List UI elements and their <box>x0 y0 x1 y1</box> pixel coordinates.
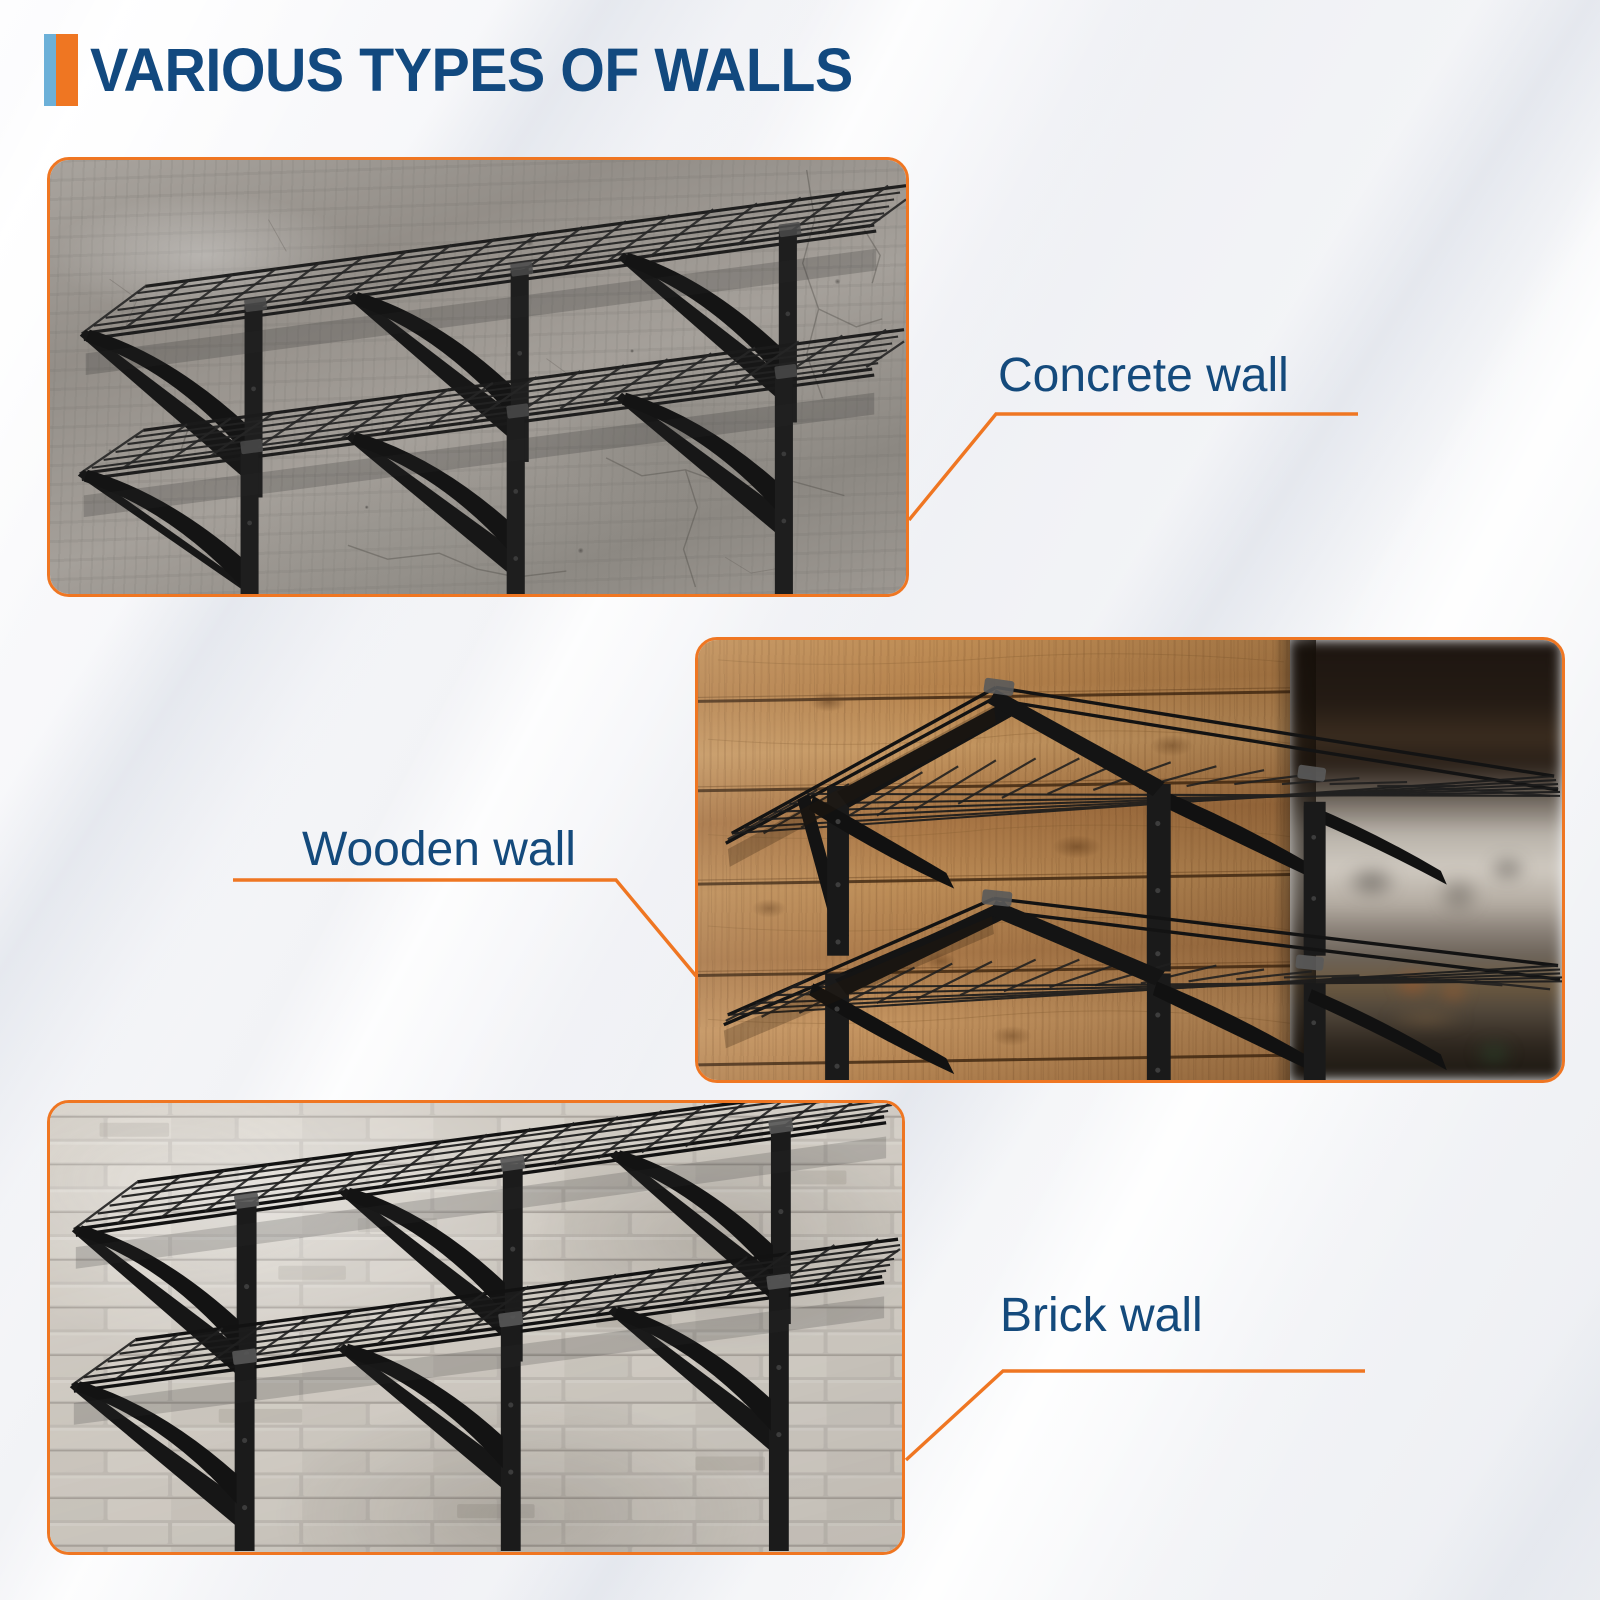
shelf-bracket-strut <box>988 900 1165 985</box>
panel-wooden-photo <box>698 640 1562 1080</box>
shelf-bracket <box>1304 983 1447 1080</box>
shelf-bracket <box>1147 973 1318 1080</box>
shelf-bracket-strut <box>988 689 1165 796</box>
panel-brick-photo <box>50 1103 902 1552</box>
infographic-page: VARIOUS TYPES OF WALLS <box>0 0 1600 1600</box>
panel-concrete-photo <box>50 160 906 594</box>
page-title: VARIOUS TYPES OF WALLS <box>90 40 853 101</box>
panel-wooden <box>695 637 1565 1083</box>
panel-concrete <box>47 157 909 597</box>
shelf-bracket <box>616 369 793 594</box>
wooden-shelf-units <box>698 640 1562 1080</box>
panel-brick <box>47 1100 905 1555</box>
accent-bar-orange <box>56 34 78 106</box>
shelf-bracket <box>1147 784 1318 971</box>
accent-bar-blue <box>44 34 56 106</box>
brick-shelf-units <box>50 1103 902 1552</box>
concrete-shelf-units <box>50 160 906 594</box>
page-header: VARIOUS TYPES OF WALLS <box>44 34 901 106</box>
shelf-bracket <box>1304 802 1447 956</box>
